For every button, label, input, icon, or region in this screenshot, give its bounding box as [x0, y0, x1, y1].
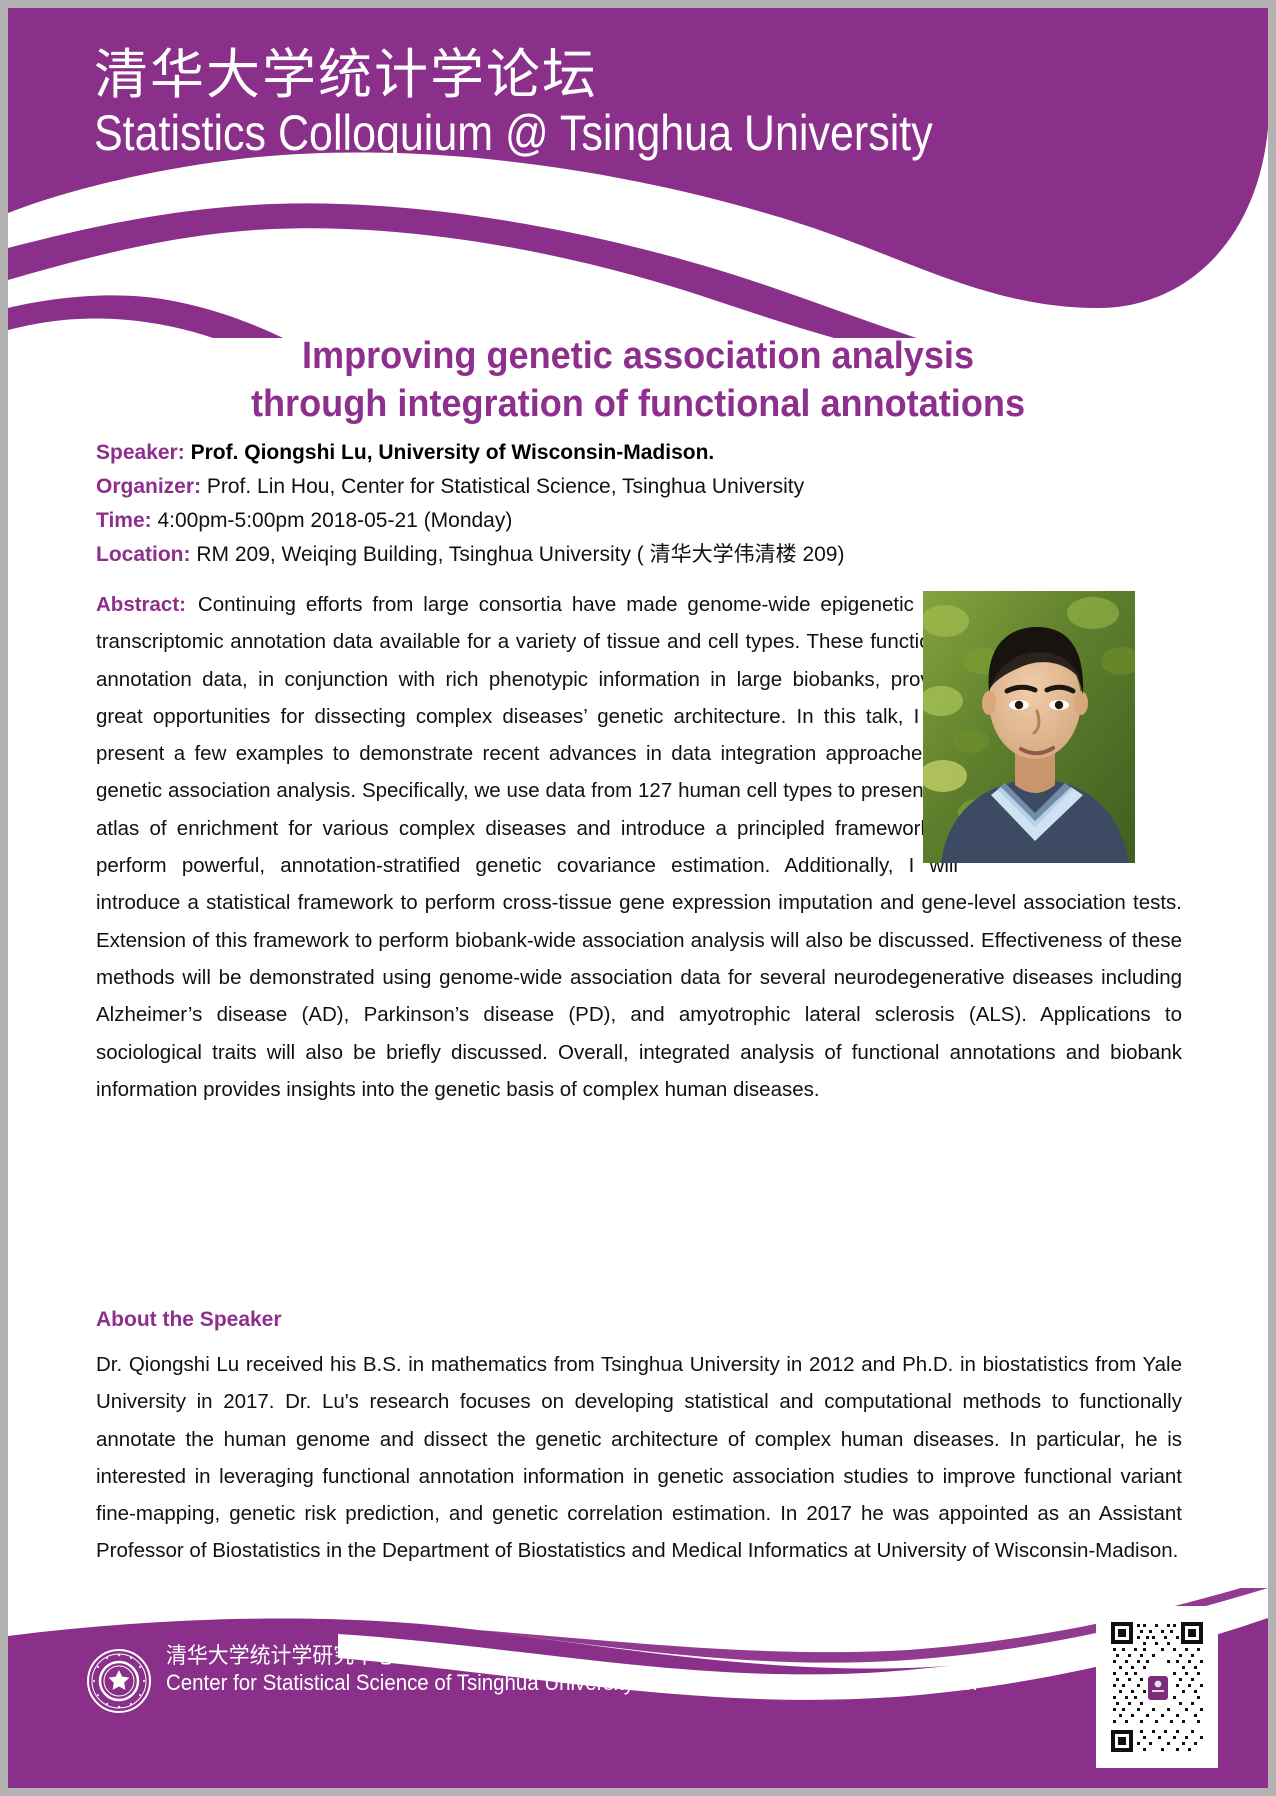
talk-title-line1: Improving genetic association analysis	[97, 333, 1180, 381]
organizer-row: Organizer: Prof. Lin Hou, Center for Sta…	[96, 476, 1186, 497]
tsinghua-seal-icon	[86, 1648, 152, 1714]
speaker-portrait-image	[923, 591, 1135, 863]
speaker-value: Prof. Qiongshi Lu, University of Wiscons…	[191, 441, 715, 464]
header-title-block: 清华大学统计学论坛 Statistics Colloquium @ Tsingh…	[94, 48, 1069, 158]
speaker-row: Speaker: Prof. Qiongshi Lu, University o…	[96, 442, 1186, 463]
talk-title-line2: through integration of functional annota…	[97, 381, 1180, 429]
speaker-label: Speaker:	[96, 441, 185, 464]
about-speaker-text: Dr. Qiongshi Lu received his B.S. in mat…	[96, 1346, 1182, 1570]
talk-title: Improving genetic association analysis t…	[97, 333, 1180, 428]
time-row: Time: 4:00pm-5:00pm 2018-05-21 (Monday)	[96, 510, 1186, 531]
time-label: Time:	[96, 509, 152, 532]
footer-website-url[interactable]: www.stat.tsinghua.edu.cn	[745, 1670, 977, 1695]
time-value: 4:00pm-5:00pm 2018-05-21 (Monday)	[157, 509, 512, 532]
qr-code-icon[interactable]	[1096, 1606, 1218, 1768]
footer-info: 清华大学统计学研究中心 Center for Statistical Scien…	[166, 1643, 1038, 1697]
poster-canvas: 清华大学统计学论坛 Statistics Colloquium @ Tsingh…	[8, 8, 1268, 1788]
organizer-value: Prof. Lin Hou, Center for Statistical Sc…	[207, 475, 804, 498]
organizer-label: Organizer:	[96, 475, 201, 498]
footer-website-label: Website：	[651, 1670, 745, 1695]
footer-center-en: Center for Statistical Science of Tsingh…	[166, 1670, 634, 1695]
header-title-en: Statistics Colloquium @ Tsinghua Univers…	[94, 108, 933, 158]
event-details: Speaker: Prof. Qiongshi Lu, University o…	[96, 442, 1186, 578]
footer-center-cn: 清华大学统计学研究中心	[166, 1643, 995, 1670]
location-row: Location: RM 209, Weiqing Building, Tsin…	[96, 544, 1186, 565]
about-speaker-heading: About the Speaker	[96, 1308, 282, 1332]
location-label: Location:	[96, 543, 191, 566]
footer-center-en-line: Center for Statistical Science of Tsingh…	[166, 1670, 977, 1697]
location-value: RM 209, Weiqing Building, Tsinghua Unive…	[196, 543, 844, 566]
footer-banner: 清华大学统计学研究中心 Center for Statistical Scien…	[8, 1588, 1268, 1788]
speaker-photo	[923, 591, 1135, 863]
header-title-cn: 清华大学统计学论坛	[94, 48, 1069, 102]
abstract-label: Abstract:	[96, 593, 186, 616]
header-banner: 清华大学统计学论坛 Statistics Colloquium @ Tsingh…	[8, 8, 1268, 338]
